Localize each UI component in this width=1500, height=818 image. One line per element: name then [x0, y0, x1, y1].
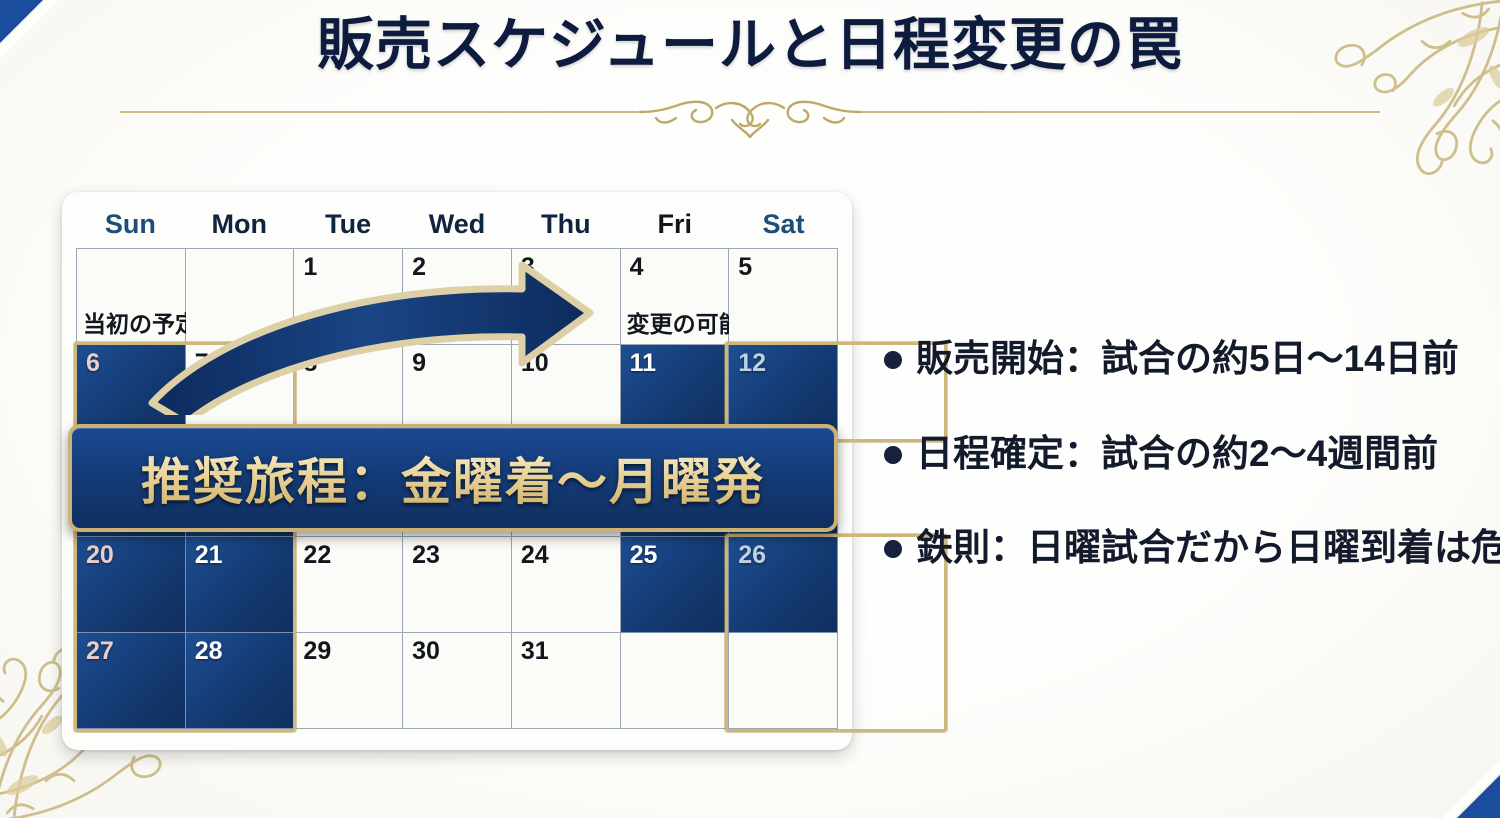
day-number: 4	[630, 253, 644, 282]
calendar-cell[interactable]: 2	[403, 249, 512, 345]
calendar-cell[interactable]: 4 変更の可能性	[621, 249, 730, 345]
calendar-cell[interactable]: 30	[403, 633, 512, 729]
calendar-cell[interactable]: 5	[729, 249, 838, 345]
calendar-week-1: 当初の予定 1 2 3 4 変更の可能性	[77, 249, 838, 345]
bullet-dot-icon	[884, 540, 902, 558]
slide-root: 販売スケジュールと日程変更の罠 Sun Mon Tue Wed Thu Fri …	[0, 0, 1500, 818]
calendar-cell[interactable]: 23	[403, 537, 512, 633]
day-number: 11	[630, 349, 656, 378]
calendar-cell[interactable]: 3	[512, 249, 621, 345]
day-number: 28	[195, 637, 223, 666]
list-item: 日程確定：試合の約2〜4週間前	[884, 433, 1484, 476]
recommended-itinerary-text: 推奨旅程：金曜着〜月曜発	[141, 442, 765, 514]
note-text: 日程確定：試合の約2〜4週間前	[916, 433, 1438, 476]
day-header-sun: Sun	[76, 209, 185, 240]
day-number: 2	[412, 253, 426, 282]
calendar-cell[interactable]	[186, 249, 295, 345]
day-number: 30	[412, 637, 440, 666]
day-number: 21	[195, 541, 223, 570]
calendar-cell-highlighted[interactable]: 25	[621, 537, 730, 633]
day-number: 20	[86, 541, 114, 570]
calendar-cell[interactable]: 22	[294, 537, 403, 633]
day-header-sat: Sat	[729, 209, 838, 240]
day-number: 26	[738, 541, 766, 570]
day-number: 9	[412, 349, 426, 378]
page-title-container: 販売スケジュールと日程変更の罠	[0, 14, 1500, 77]
calendar-cell[interactable]: 1	[294, 249, 403, 345]
day-number: 6	[86, 349, 100, 378]
day-number: 10	[521, 349, 549, 378]
day-number: 7	[195, 349, 209, 378]
bullet-dot-icon	[884, 446, 902, 464]
day-number: 22	[303, 541, 331, 570]
calendar-cell[interactable]	[729, 633, 838, 729]
label-original-plan: 当初の予定	[83, 305, 198, 339]
day-number: 12	[738, 349, 766, 378]
note-text: 販売開始：試合の約5日〜14日前	[916, 338, 1459, 381]
day-header-thu: Thu	[511, 209, 620, 240]
note-text: 鉄則：日曜試合だから日曜到着は危険	[916, 527, 1500, 570]
calendar-day-headers: Sun Mon Tue Wed Thu Fri Sat	[76, 200, 838, 248]
day-number: 1	[303, 253, 317, 282]
calendar-cell-highlighted[interactable]: 28	[186, 633, 295, 729]
day-number: 25	[630, 541, 658, 570]
calendar-cell-highlighted[interactable]: 21	[186, 537, 295, 633]
divider-ornament-icon	[120, 96, 1380, 140]
calendar-cell-highlighted[interactable]: 20	[77, 537, 186, 633]
day-number: 3	[521, 253, 535, 282]
day-number: 8	[303, 349, 317, 378]
page-title: 販売スケジュールと日程変更の罠	[0, 14, 1500, 77]
bullet-dot-icon	[884, 351, 902, 369]
list-item: 販売開始：試合の約5日〜14日前	[884, 338, 1484, 381]
day-number: 27	[86, 637, 114, 666]
day-header-wed: Wed	[403, 209, 512, 240]
day-number: 29	[303, 637, 331, 666]
calendar-cell[interactable]: 29	[294, 633, 403, 729]
recommended-itinerary-banner: 推奨旅程：金曜着〜月曜発	[68, 424, 838, 532]
list-item: 鉄則：日曜試合だから日曜到着は危険	[884, 527, 1484, 570]
notes-list: 販売開始：試合の約5日〜14日前 日程確定：試合の約2〜4週間前 鉄則：日曜試合…	[884, 338, 1484, 570]
day-number: 23	[412, 541, 440, 570]
calendar-week-5: 27 28 29 30 31	[77, 633, 838, 729]
day-header-mon: Mon	[185, 209, 294, 240]
calendar-week-4: 20 21 22 23 24 25 26	[77, 537, 838, 633]
day-number: 24	[521, 541, 549, 570]
calendar-cell[interactable]	[621, 633, 730, 729]
calendar-cell[interactable]: 当初の予定	[77, 249, 186, 345]
calendar-cell[interactable]: 31	[512, 633, 621, 729]
day-header-fri: Fri	[620, 209, 729, 240]
day-header-tue: Tue	[294, 209, 403, 240]
calendar-cell-highlighted[interactable]: 26	[729, 537, 838, 633]
day-number: 31	[521, 637, 549, 666]
day-number: 5	[738, 253, 752, 282]
calendar-cell-highlighted[interactable]: 27	[77, 633, 186, 729]
calendar-cell[interactable]: 24	[512, 537, 621, 633]
